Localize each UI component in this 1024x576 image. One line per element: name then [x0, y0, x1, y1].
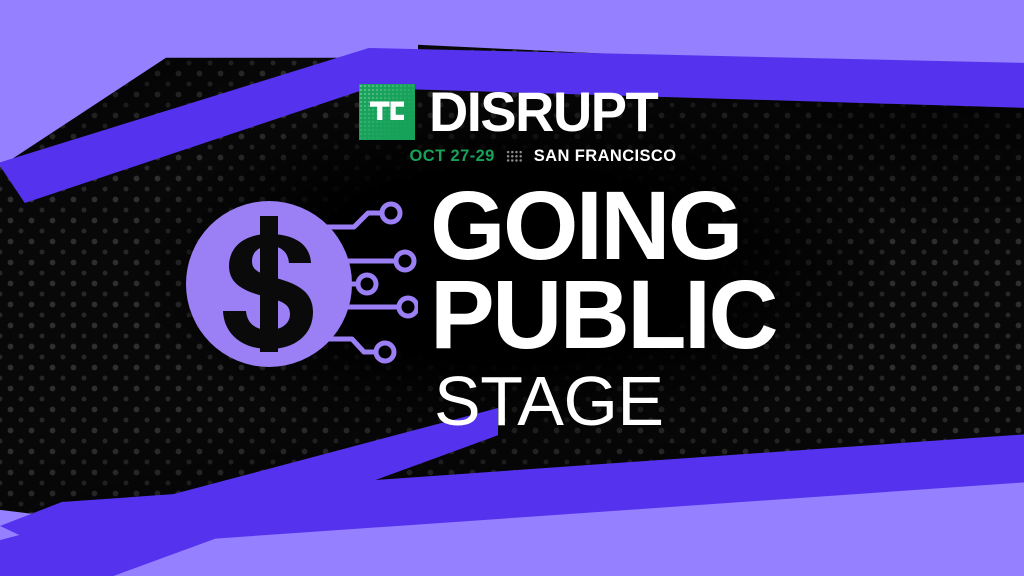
tc-logo-icon: [359, 84, 415, 140]
dot-grid-separator-icon: [506, 150, 523, 163]
hero-content: GOING PUBLIC STAGE: [186, 188, 776, 436]
headline-line-public: PUBLIC: [430, 271, 776, 360]
disrupt-wordmark: DISRUPT: [429, 88, 657, 136]
headline-line-going: GOING: [430, 182, 776, 271]
brand-row: DISRUPT: [359, 84, 664, 140]
event-location: SAN FRANCISCO: [534, 147, 677, 166]
headline-line-stage: STAGE: [434, 366, 776, 436]
dollar-coin-circuit-icon: [186, 198, 418, 370]
event-lockup: DISRUPT OCT 27-29 SAN FRANCISCO: [0, 84, 1024, 166]
hero-headline: GOING PUBLIC STAGE: [430, 182, 776, 436]
disrupt-going-public-stage-graphic: DISRUPT OCT 27-29 SAN FRANCISCO: [0, 0, 1024, 576]
event-dates: OCT 27-29: [410, 147, 495, 166]
event-details-row: OCT 27-29 SAN FRANCISCO: [348, 147, 677, 166]
